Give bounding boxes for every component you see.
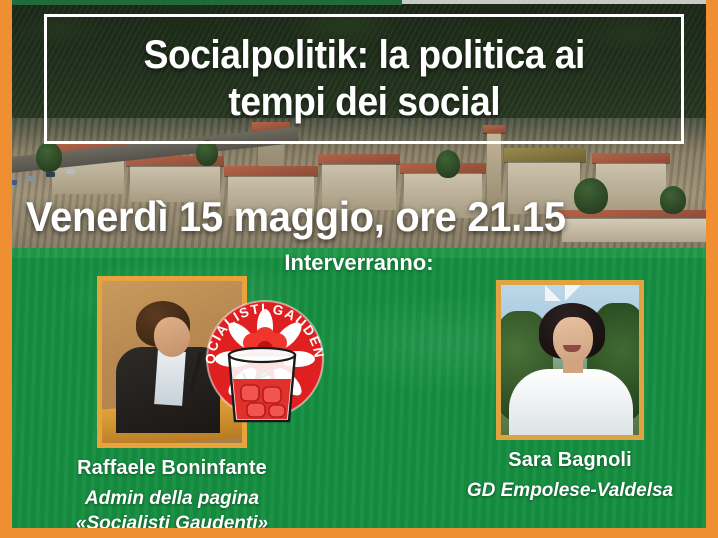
tree — [574, 178, 608, 214]
speakers-heading: Interverranno: — [0, 250, 718, 276]
roof — [592, 153, 670, 163]
woman-outdoor-portrait-image — [501, 285, 639, 435]
car — [46, 172, 55, 177]
right-orange-border — [706, 0, 718, 538]
face — [154, 317, 190, 357]
speaker-name: Sara Bagnoli — [446, 449, 694, 472]
church-roof — [504, 148, 586, 162]
drinking-glass — [229, 348, 295, 421]
socialisti-gaudenti-logo: SOCIALISTI GAUDENTI — [199, 293, 331, 425]
dress-shirt — [154, 350, 186, 406]
speaker-photo-right — [496, 280, 644, 440]
top-light-strip — [402, 0, 706, 4]
speaker-name: Raffaele Boninfante — [48, 457, 296, 480]
event-poster: Socialpolitik: la politica ai tempi dei … — [0, 0, 718, 538]
long-building — [562, 216, 712, 242]
tree — [436, 150, 460, 178]
car — [66, 169, 75, 174]
collar — [565, 285, 581, 301]
tree — [36, 142, 62, 172]
car — [26, 176, 35, 181]
speaker-card-right: Sara Bagnoli GD Empolese-Valdelsa — [446, 280, 694, 504]
roof — [318, 154, 400, 164]
white-blouse — [509, 369, 633, 435]
collar — [545, 285, 561, 301]
bottom-orange-border — [0, 528, 718, 538]
tree — [660, 186, 686, 214]
face — [553, 317, 593, 363]
top-green-strip — [12, 0, 402, 5]
speaker-role: GD Empolese-Valdelsa — [446, 479, 694, 504]
left-orange-border — [0, 0, 12, 538]
title-box: Socialpolitik: la politica ai tempi dei … — [44, 14, 684, 144]
event-date: Venerdì 15 maggio, ore 21.15 — [26, 196, 566, 238]
page-title: Socialpolitik: la politica ai tempi dei … — [130, 32, 597, 126]
roof — [224, 166, 318, 176]
